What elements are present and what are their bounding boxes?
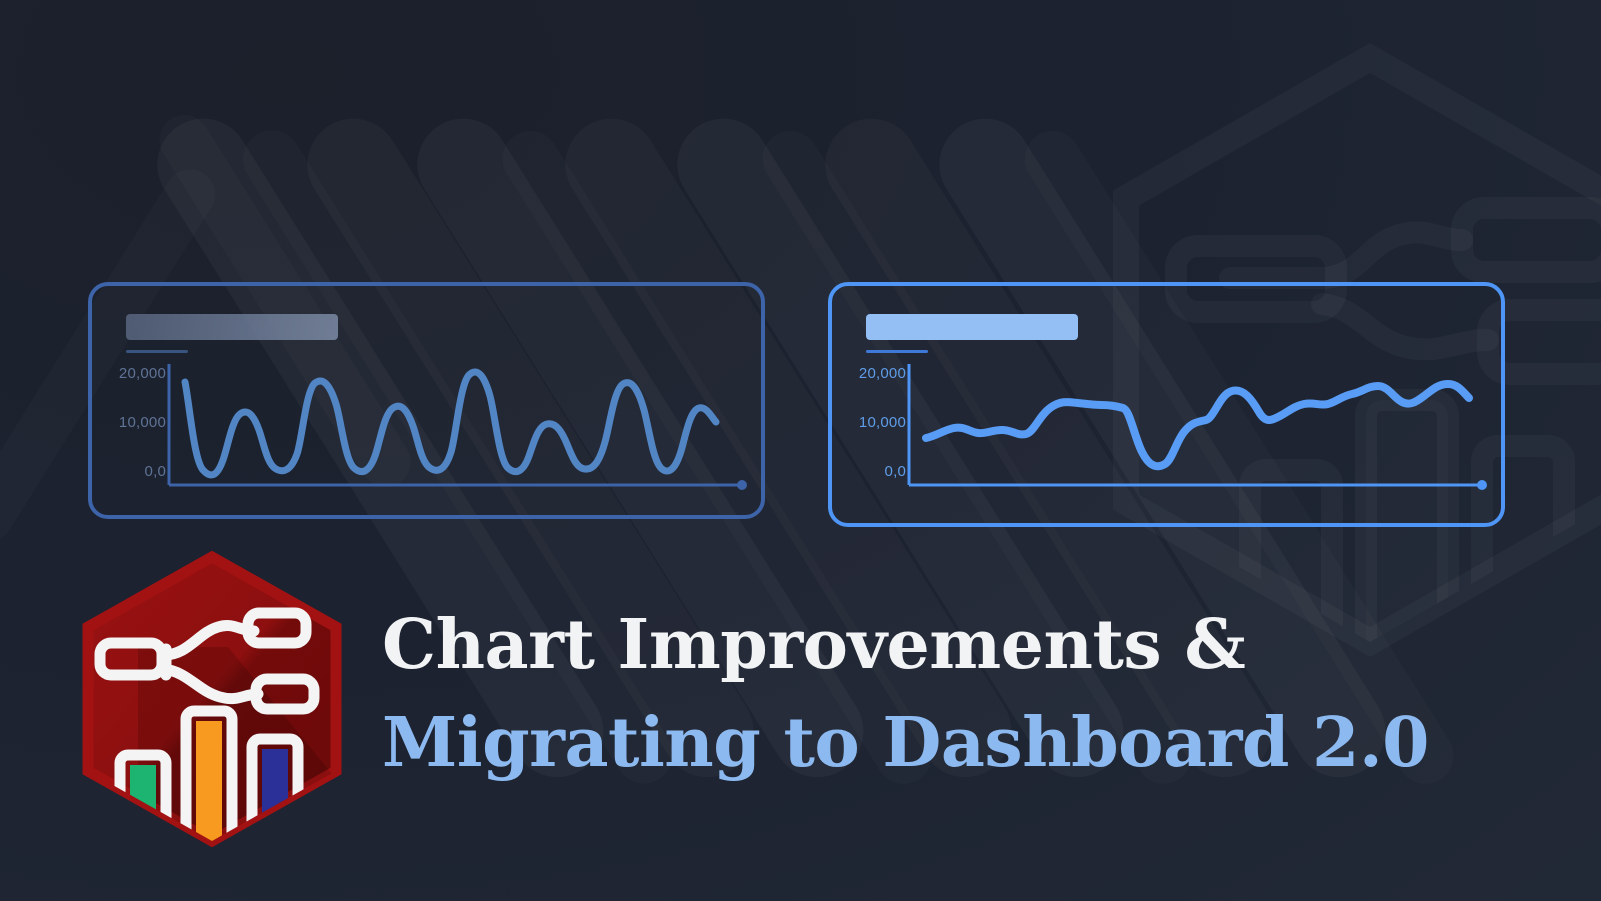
before-chart-plot [166, 364, 746, 488]
y-axis-tick-labels: 20,000 10,000 0,0 [848, 366, 906, 479]
y-tick-label: 0,0 [108, 464, 166, 479]
headline-block: Chart Improvements & Migrating to Dashbo… [382, 596, 1512, 792]
headline-line-2: Migrating to Dashboard 2.0 [382, 694, 1512, 792]
x-axis-end-dot [737, 480, 747, 490]
logo-bar-blue [262, 749, 288, 847]
y-tick-label: 20,000 [848, 366, 906, 415]
headline-line-1: Chart Improvements & [382, 596, 1512, 694]
panel-title-placeholder [126, 314, 338, 340]
y-axis-tick-labels: 20,000 10,000 0,0 [108, 366, 166, 479]
y-tick-label: 10,000 [848, 415, 906, 464]
before-chart-panel[interactable]: 20,000 10,000 0,0 [88, 282, 765, 519]
before-series-line [185, 372, 716, 475]
y-tick-label: 20,000 [108, 366, 166, 415]
x-axis-end-dot [1477, 480, 1487, 490]
panel-subtitle-rule [866, 350, 928, 353]
after-chart-plot [906, 364, 1486, 488]
pipeline-bar-chart-hexagon-logo [78, 551, 346, 847]
y-tick-label: 10,000 [108, 415, 166, 464]
poster-canvas: 20,000 10,000 0,0 20,000 10,000 0,0 [0, 0, 1601, 901]
panel-subtitle-rule [126, 350, 188, 353]
y-tick-label: 0,0 [848, 464, 906, 479]
logo-bar-orange [196, 721, 222, 847]
panel-title-placeholder [866, 314, 1078, 340]
after-series-line [926, 384, 1469, 466]
after-chart-panel[interactable]: 20,000 10,000 0,0 [828, 282, 1505, 527]
